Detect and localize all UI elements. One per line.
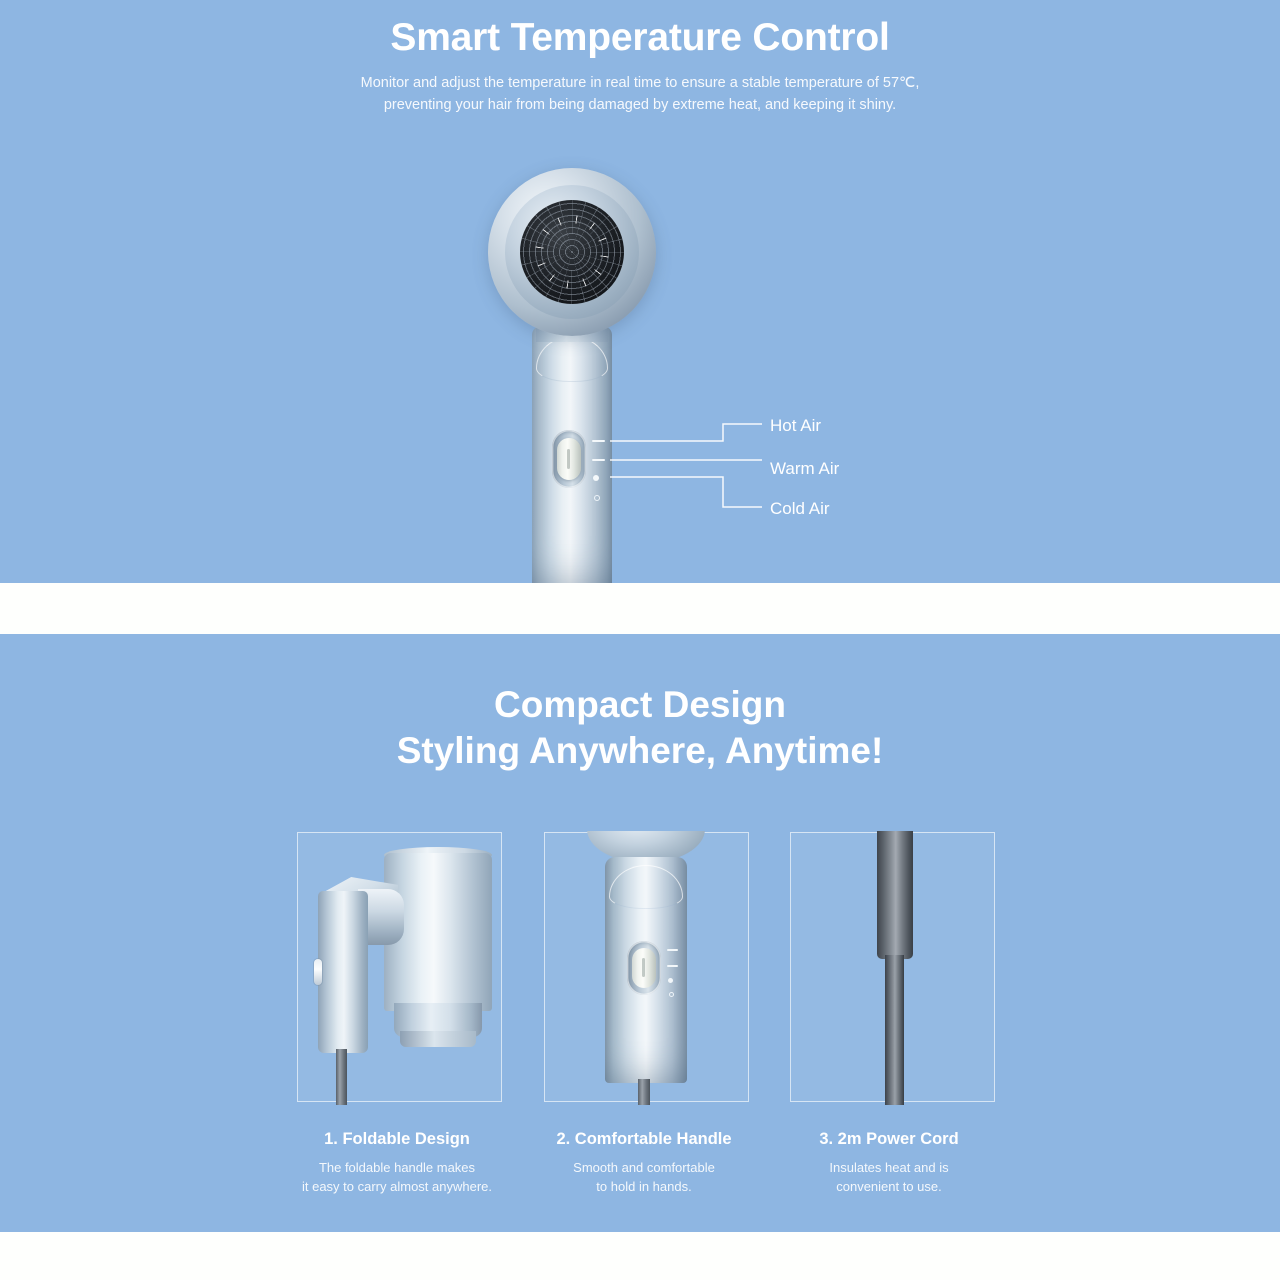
callout-leader-lines <box>0 0 1280 583</box>
power-cord-cable <box>885 955 904 1105</box>
feature-body: The foldable handle makes it easy to car… <box>274 1158 520 1196</box>
callout-label-hot-air: Hot Air <box>770 416 821 436</box>
feature-body: Insulates heat and is convenient to use. <box>766 1158 1012 1196</box>
feature-caption-power-cord: 3. 2m Power Cord Insulates heat and is c… <box>766 1130 1012 1196</box>
feature-title: 1. Foldable Design <box>274 1130 520 1149</box>
smart-temperature-section: Smart Temperature Control Monitor and ad… <box>0 0 1280 583</box>
section-two-title: Compact Design Styling Anywhere, Anytime… <box>0 682 1280 774</box>
handle-closeup-cord <box>638 1079 650 1105</box>
leader-line-cold-air <box>610 477 762 507</box>
feature-title: 2. Comfortable Handle <box>521 1130 767 1149</box>
footer-white-band <box>0 1232 1280 1280</box>
feature-caption-comfortable-handle: 2. Comfortable Handle Smooth and comfort… <box>521 1130 767 1196</box>
folded-handle <box>318 891 368 1053</box>
feature-body-line-1: Smooth and comfortable <box>573 1160 715 1175</box>
feature-body-line-2: to hold in hands. <box>596 1179 691 1194</box>
callout-label-warm-air: Warm Air <box>770 459 839 479</box>
feature-body-line-1: The foldable handle makes <box>319 1160 475 1175</box>
folded-barrel-lip <box>400 1031 476 1047</box>
section-divider-band <box>0 583 1280 634</box>
power-cord-sleeve <box>877 831 913 959</box>
compact-design-section: Compact Design Styling Anywhere, Anytime… <box>0 634 1280 1232</box>
card-image-handle <box>543 831 752 1105</box>
folded-power-cord <box>336 1049 347 1105</box>
feature-body-line-2: it easy to carry almost anywhere. <box>302 1179 492 1194</box>
feature-caption-foldable-design: 1. Foldable Design The foldable handle m… <box>274 1130 520 1196</box>
card-image-foldable <box>296 831 505 1105</box>
handle-closeup-switch-thumb[interactable] <box>632 948 656 988</box>
feature-card-foldable-design[interactable] <box>297 832 502 1102</box>
callout-label-cold-air: Cold Air <box>770 499 830 519</box>
feature-card-row <box>297 832 997 1102</box>
folded-side-button <box>314 959 322 985</box>
feature-card-comfortable-handle[interactable] <box>544 832 749 1102</box>
leader-line-hot-air <box>610 424 762 441</box>
feature-card-power-cord[interactable] <box>790 832 995 1102</box>
handle-hot-indicator-icon <box>667 949 678 951</box>
feature-title: 3. 2m Power Cord <box>766 1130 1012 1149</box>
feature-body-line-1: Insulates heat and is <box>829 1160 948 1175</box>
handle-warm-indicator-icon <box>667 965 678 967</box>
handle-off-indicator-icon <box>669 992 674 997</box>
feature-body-line-2: convenient to use. <box>836 1179 942 1194</box>
handle-closeup-switch[interactable] <box>627 941 661 995</box>
feature-body: Smooth and comfortable to hold in hands. <box>521 1158 767 1196</box>
section-two-title-line-1: Compact Design <box>494 684 786 725</box>
card-image-power-cord <box>789 831 998 1105</box>
product-marketing-page: Smart Temperature Control Monitor and ad… <box>0 0 1280 1280</box>
section-two-title-line-2: Styling Anywhere, Anytime! <box>397 730 884 771</box>
